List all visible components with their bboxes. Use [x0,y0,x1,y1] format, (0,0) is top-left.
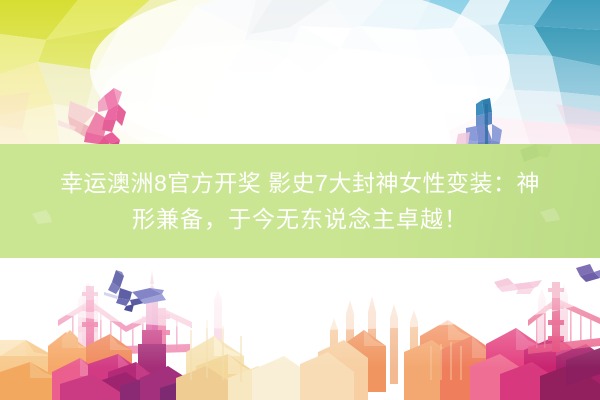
gull-right-icon [494,278,542,294]
purple-gull-corner-icon [576,264,600,282]
promo-banner-image: 幸运澳洲8官方开奖 影史7大封神女性变装：神 形兼备，于今无东说念主卓越！ [0,0,600,400]
pink-gull-graphic [0,0,600,400]
